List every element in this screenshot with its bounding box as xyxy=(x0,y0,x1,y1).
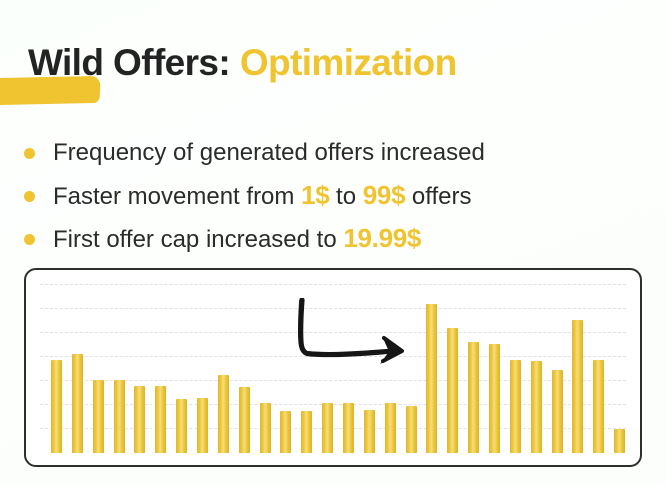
list-item: First offer cap increased to 19.99$ xyxy=(24,217,644,260)
chart-bar xyxy=(51,360,62,453)
bar-slot xyxy=(171,280,192,453)
chart-bar xyxy=(364,410,375,453)
chart-card xyxy=(24,268,642,467)
bullet-list: Frequency of generated offers increased … xyxy=(24,131,644,260)
chart-bar xyxy=(406,406,417,453)
chart-bar xyxy=(239,387,250,453)
bullet-segment: First offer cap increased to xyxy=(53,226,343,253)
bar-slot xyxy=(484,280,505,453)
title-block: Wild Offers: Optimization xyxy=(28,40,457,94)
bar-slot xyxy=(67,280,88,453)
chart-bar xyxy=(218,375,229,453)
bullet-segment: Faster movement from xyxy=(53,183,301,210)
chart-bar xyxy=(134,386,145,453)
title-main-text: Wild Offers: xyxy=(28,42,230,83)
bar-slot xyxy=(567,280,588,453)
chart-bar xyxy=(385,403,396,453)
chart-bar xyxy=(176,399,187,453)
chart-bar xyxy=(593,360,604,453)
bar-slot xyxy=(317,280,338,453)
bar-slot xyxy=(150,280,171,453)
title-accent-text: Optimization xyxy=(240,42,457,83)
bar-slot xyxy=(526,280,547,453)
chart-bar xyxy=(155,386,166,453)
bar-slot xyxy=(255,280,276,453)
bar-slot xyxy=(192,280,213,453)
bar-slot xyxy=(463,280,484,453)
chart-bar xyxy=(447,328,458,453)
chart-bar xyxy=(572,320,583,453)
bullet-segment: to xyxy=(329,183,362,210)
bullet-dot-icon xyxy=(24,191,35,202)
bullet-text-1: Frequency of generated offers increased xyxy=(53,138,485,168)
chart-bar xyxy=(322,403,333,453)
chart-bar xyxy=(114,380,125,453)
bar-slot xyxy=(547,280,568,453)
chart-bar xyxy=(468,342,479,453)
chart-bar xyxy=(614,429,625,453)
bar-slot xyxy=(359,280,380,453)
bar-chart-plot xyxy=(46,280,630,453)
bar-slot xyxy=(213,280,234,453)
chart-bar xyxy=(531,361,542,453)
bar-slot xyxy=(401,280,422,453)
bar-slot xyxy=(588,280,609,453)
bar-slot xyxy=(505,280,526,453)
bullet-text-3: First offer cap increased to 19.99$ xyxy=(53,223,421,255)
bar-slot xyxy=(275,280,296,453)
bar-slot xyxy=(46,280,67,453)
list-item: Frequency of generated offers increased xyxy=(24,131,644,174)
bullet-highlight-value: 1$ xyxy=(301,180,329,210)
chart-bar xyxy=(260,403,271,453)
chart-bar xyxy=(426,304,437,453)
page-title: Wild Offers: Optimization xyxy=(28,40,457,86)
bar-slot xyxy=(109,280,130,453)
bar-slot xyxy=(234,280,255,453)
bar-slot xyxy=(338,280,359,453)
bullet-segment: Frequency of generated offers increased xyxy=(53,139,485,166)
bar-slot xyxy=(296,280,317,453)
slide-root: Wild Offers: Optimization Frequency of g… xyxy=(0,0,667,485)
bar-slot xyxy=(88,280,109,453)
bar-slot xyxy=(380,280,401,453)
bullet-highlight-value: 99$ xyxy=(363,180,405,210)
chart-bar xyxy=(280,411,291,453)
bar-slot xyxy=(129,280,150,453)
chart-bar xyxy=(93,380,104,453)
chart-bar xyxy=(510,360,521,453)
chart-bar xyxy=(72,354,83,453)
bullet-text-2: Faster movement from 1$ to 99$ offers xyxy=(53,180,472,212)
chart-bar xyxy=(552,370,563,453)
bullet-segment: offers xyxy=(405,183,471,210)
bullet-dot-icon xyxy=(24,234,35,245)
bar-slot xyxy=(442,280,463,453)
list-item: Faster movement from 1$ to 99$ offers xyxy=(24,174,644,217)
chart-bar xyxy=(489,344,500,453)
chart-bar xyxy=(301,411,312,453)
bullet-highlight-value: 19.99$ xyxy=(343,223,421,253)
bullet-dot-icon xyxy=(24,148,35,159)
bar-slot xyxy=(421,280,442,453)
bar-slot xyxy=(609,280,630,453)
chart-bar xyxy=(343,403,354,453)
chart-bar xyxy=(197,398,208,453)
